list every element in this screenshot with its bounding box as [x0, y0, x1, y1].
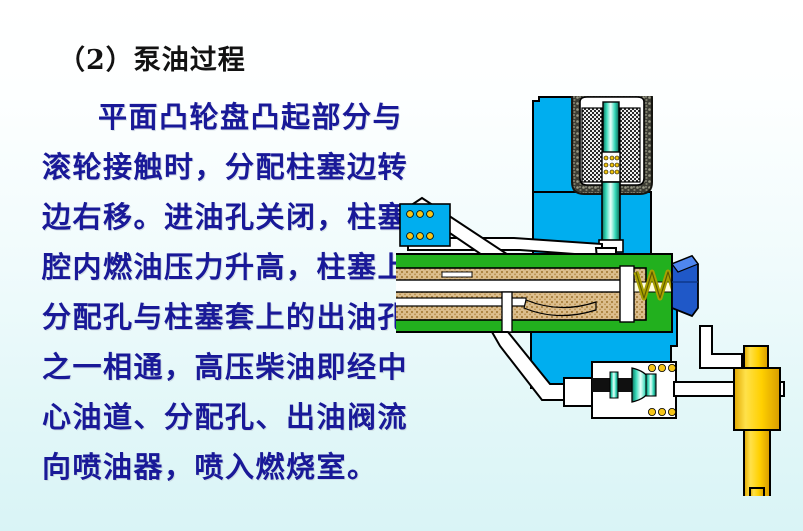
adjust-bolt — [672, 256, 698, 316]
page-title: （2）泵油过程 — [58, 38, 246, 77]
paragraph-line: 分配孔与柱塞套上的出油孔 — [42, 292, 392, 342]
paragraph-line: 向喷油器，喷入燃烧室。 — [42, 442, 392, 492]
paragraph-line: 边右移。进油孔关闭，柱塞 — [42, 192, 392, 242]
slide-canvas: （2）泵油过程 平面凸轮盘凸起部分与 滚轮接触时，分配柱塞边转 边右移。进油孔关… — [0, 0, 803, 531]
paragraph-line: 腔内燃油压力升高，柱塞上 — [42, 242, 392, 292]
paragraph-line: 滚轮接触时，分配柱塞边转 — [42, 142, 392, 192]
fuel-pump-diagram — [396, 96, 800, 496]
paragraph-line: 之一相通，高压柴油即经中 — [42, 342, 392, 392]
paragraph-line: 心油道、分配孔、出油阀流 — [42, 392, 392, 442]
body-paragraph: 平面凸轮盘凸起部分与 滚轮接触时，分配柱塞边转 边右移。进油孔关闭，柱塞 腔内燃… — [42, 92, 392, 492]
paragraph-line: 平面凸轮盘凸起部分与 — [42, 92, 392, 142]
seal-stack — [400, 204, 450, 246]
injector — [734, 346, 780, 496]
delivery-valve — [592, 362, 676, 418]
